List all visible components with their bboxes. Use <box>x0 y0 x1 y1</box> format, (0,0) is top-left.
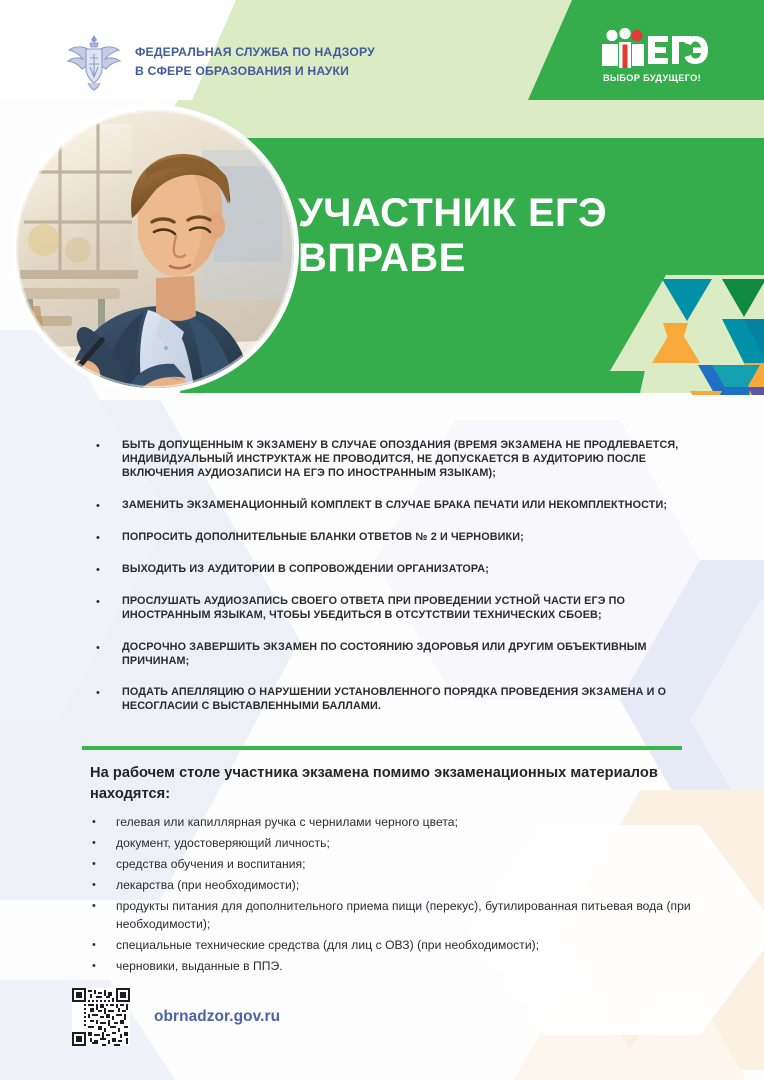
bullet-glyph: • <box>96 530 122 545</box>
bullet-glyph: • <box>90 936 116 954</box>
list-item: • специальные технические средства (для … <box>90 936 700 954</box>
list-item: • ВЫХОДИТЬ ИЗ АУДИТОРИИ В СОПРОВОЖДЕНИИ … <box>96 562 686 577</box>
website-url[interactable]: obrnadzor.gov.ru <box>154 1008 280 1026</box>
list-item: • гелевая или капиллярная ручка с чернил… <box>90 813 700 831</box>
rosobrnadzor-lockup: ФЕДЕРАЛЬНАЯ СЛУЖБА ПО НАДЗОРУ В СФЕРЕ ОБ… <box>66 33 375 91</box>
list-item: • средства обучения и воспитания; <box>90 855 700 873</box>
hero-banner: УЧАСТНИК ЕГЭ ВПРАВЕ <box>0 95 764 395</box>
list-item: • черновики, выданные в ППЭ. <box>90 957 700 975</box>
watermark-blue-right-top2 <box>690 600 764 840</box>
poster-root: ФЕДЕРАЛЬНАЯ СЛУЖБА ПО НАДЗОРУ В СФЕРЕ ОБ… <box>0 0 764 1080</box>
desk-item-text: черновики, выданные в ППЭ. <box>116 957 283 975</box>
list-item: • ЗАМЕНИТЬ ЭКЗАМЕНАЦИОННЫЙ КОМПЛЕКТ В СЛ… <box>96 498 686 513</box>
list-item: • документ, удостоверяющий личность; <box>90 834 700 852</box>
desk-section-heading: На рабочем столе участника экзамена поми… <box>90 763 700 804</box>
list-item: • ПРОСЛУШАТЬ АУДИОЗАПИСЬ СВОЕГО ОТВЕТА П… <box>96 594 686 622</box>
ege-logo-lockup: ВЫБОР БУДУЩЕГО! <box>592 28 712 83</box>
bullet-glyph: • <box>96 594 122 609</box>
bullet-glyph: • <box>96 685 122 700</box>
rights-item-text: ЗАМЕНИТЬ ЭКЗАМЕНАЦИОННЫЙ КОМПЛЕКТ В СЛУЧ… <box>122 498 667 512</box>
ege-logo-icon <box>596 28 708 70</box>
page-title-line2: ВПРАВЕ <box>298 236 607 281</box>
bullet-glyph: • <box>90 813 116 831</box>
agency-name: ФЕДЕРАЛЬНАЯ СЛУЖБА ПО НАДЗОРУ В СФЕРЕ ОБ… <box>135 43 375 80</box>
list-item: • лекарства (при необходимости); <box>90 876 700 894</box>
bullet-glyph: • <box>90 834 116 852</box>
list-item: • ПОПРОСИТЬ ДОПОЛНИТЕЛЬНЫЕ БЛАНКИ ОТВЕТО… <box>96 530 686 545</box>
list-item: • ПОДАТЬ АПЕЛЛЯЦИЮ О НАРУШЕНИИ УСТАНОВЛЕ… <box>96 685 686 713</box>
bullet-glyph: • <box>90 876 116 894</box>
list-item: • ДОСРОЧНО ЗАВЕРШИТЬ ЭКЗАМЕН ПО СОСТОЯНИ… <box>96 640 686 668</box>
rights-item-text: ПРОСЛУШАТЬ АУДИОЗАПИСЬ СВОЕГО ОТВЕТА ПРИ… <box>122 594 686 622</box>
student-photo <box>16 110 294 388</box>
desk-item-text: специальные технические средства (для ли… <box>116 936 539 954</box>
desk-item-text: гелевая или капиллярная ручка с чернилам… <box>116 813 458 831</box>
rights-item-text: ДОСРОЧНО ЗАВЕРШИТЬ ЭКЗАМЕН ПО СОСТОЯНИЮ … <box>122 640 686 668</box>
page-title-line1: УЧАСТНИК ЕГЭ <box>298 191 607 236</box>
page-title: УЧАСТНИК ЕГЭ ВПРАВЕ <box>298 191 607 281</box>
desk-items-section: На рабочем столе участника экзамена поми… <box>90 763 700 978</box>
bullet-glyph: • <box>90 957 116 975</box>
ege-tagline: ВЫБОР БУДУЩЕГО! <box>592 73 712 83</box>
section-divider <box>82 746 682 750</box>
footer: obrnadzor.gov.ru <box>72 988 280 1046</box>
watermark-peach-right2 <box>490 1000 764 1080</box>
bullet-glyph: • <box>96 438 122 453</box>
qr-code-icon[interactable] <box>72 988 130 1046</box>
rights-item-text: ПОПРОСИТЬ ДОПОЛНИТЕЛЬНЫЕ БЛАНКИ ОТВЕТОВ … <box>122 530 524 544</box>
desk-item-text: продукты питания для дополнительного при… <box>116 897 700 933</box>
bullet-glyph: • <box>96 562 122 577</box>
desk-item-text: документ, удостоверяющий личность; <box>116 834 330 852</box>
rights-item-text: БЫТЬ ДОПУЩЕННЫМ К ЭКЗАМЕНУ В СЛУЧАЕ ОПОЗ… <box>122 438 686 481</box>
student-photo-illustration <box>16 110 294 388</box>
agency-name-line2: В СФЕРЕ ОБРАЗОВАНИЯ И НАУКИ <box>135 62 375 81</box>
bullet-glyph: • <box>96 640 122 655</box>
rights-item-text: ПОДАТЬ АПЕЛЛЯЦИЮ О НАРУШЕНИИ УСТАНОВЛЕНН… <box>122 685 686 713</box>
desk-item-text: средства обучения и воспитания; <box>116 855 306 873</box>
bullet-glyph: • <box>90 897 116 915</box>
bullet-glyph: • <box>90 855 116 873</box>
desk-item-text: лекарства (при необходимости); <box>116 876 299 894</box>
rosobrnadzor-emblem-icon <box>66 33 122 91</box>
bullet-glyph: • <box>96 498 122 513</box>
desk-list: • гелевая или капиллярная ручка с чернил… <box>90 813 700 975</box>
list-item: • БЫТЬ ДОПУЩЕННЫМ К ЭКЗАМЕНУ В СЛУЧАЕ ОП… <box>96 438 686 481</box>
header: ФЕДЕРАЛЬНАЯ СЛУЖБА ПО НАДЗОРУ В СФЕРЕ ОБ… <box>0 0 764 100</box>
rights-list: • БЫТЬ ДОПУЩЕННЫМ К ЭКЗАМЕНУ В СЛУЧАЕ ОП… <box>96 438 686 713</box>
agency-name-line1: ФЕДЕРАЛЬНАЯ СЛУЖБА ПО НАДЗОРУ <box>135 43 375 62</box>
list-item: • продукты питания для дополнительного п… <box>90 897 700 933</box>
rights-item-text: ВЫХОДИТЬ ИЗ АУДИТОРИИ В СОПРОВОЖДЕНИИ ОР… <box>122 562 489 576</box>
